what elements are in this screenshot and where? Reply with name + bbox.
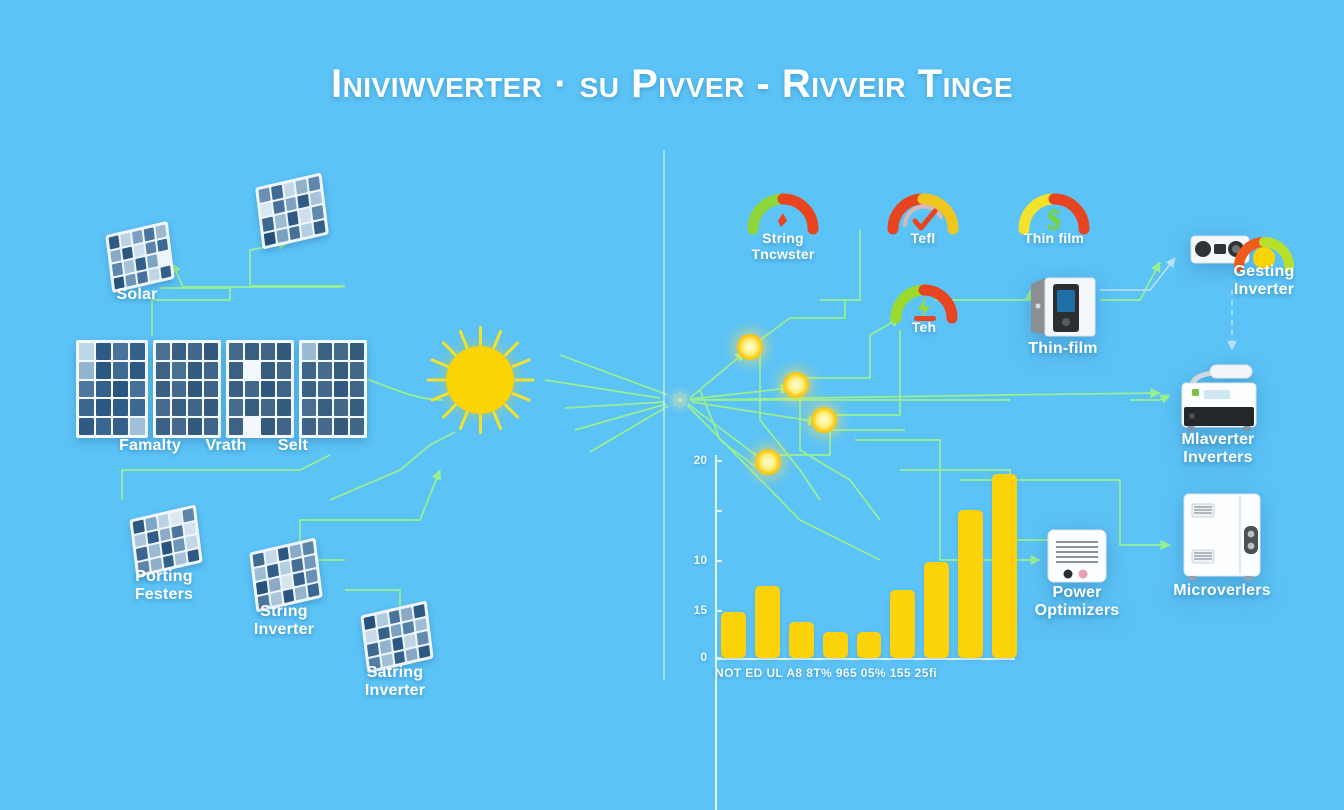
page-title: Iniviwverter · su Pivver - Rivveir Tinge [0, 62, 1344, 107]
chart-x-tick-labels: NOT ED UL A8 8T% 965 05% 155 25fi [715, 666, 1020, 680]
solar-panel-module[interactable] [153, 340, 221, 438]
gauge-label: Thin film [1012, 231, 1096, 247]
array-label-selt: Selt [258, 437, 328, 455]
chart-bar [958, 510, 983, 658]
chart-bar [857, 632, 882, 658]
panel-grid-icon [105, 221, 174, 293]
solar-panel-tile-solar[interactable]: Solar [108, 228, 172, 286]
gauge-thin-film[interactable]: $ Thin film [1016, 183, 1092, 233]
device-label: Power Optimizers [1028, 584, 1126, 620]
panel-grid-icon [360, 600, 433, 673]
panel-grid-icon [249, 537, 323, 612]
gauge-label: Gesting Inverter [1211, 263, 1317, 299]
sun-icon [430, 330, 530, 430]
device-mlaverter-inverters[interactable]: Mlaverter Inverters [1170, 355, 1266, 438]
solar-panel-tile-top[interactable] [258, 180, 326, 242]
solar-panel-tile-porting[interactable]: Porting Festers [132, 512, 200, 570]
solar-panel-module[interactable] [226, 340, 294, 438]
chart-bar [823, 632, 848, 658]
device-label: Microverlers [1168, 582, 1276, 600]
device-power-optimizers[interactable]: Power Optimizers [1046, 528, 1108, 591]
device-thin-film[interactable]: Thin-film [1025, 272, 1101, 347]
chart-ytick-1: 15 [673, 603, 707, 617]
solar-panel-array[interactable] [76, 340, 367, 438]
solar-panel-tile-label: Porting Festers [118, 568, 210, 604]
solar-panel-tile-label: Satring Inverter [353, 664, 437, 700]
chart-y-axis [715, 455, 717, 810]
solar-panel-module[interactable] [299, 340, 367, 438]
chart-bar [890, 590, 915, 658]
gauge-gesting-inverter[interactable]: Gesting Inverter [1233, 225, 1295, 271]
device-microverlers[interactable]: Microverlers [1178, 490, 1266, 589]
device-label: Thin-film [1013, 340, 1113, 358]
array-label-famalty: Famalty [108, 437, 192, 455]
device-label: Mlaverter Inverters [1158, 431, 1278, 467]
solar-panel-tile-string[interactable]: String Inverter [252, 545, 320, 605]
chart-bar [721, 612, 746, 658]
chart-bar [992, 474, 1017, 658]
chart-ytick-0: 0 [673, 650, 707, 664]
chart-bar [789, 622, 814, 658]
solar-panel-module[interactable] [76, 340, 148, 438]
solar-panel-tile-label: Solar [102, 286, 172, 304]
bar-chart: 20 10 15 0 NOT ED UL A8 8T% 965 05% 155 … [663, 150, 1023, 670]
panel-grid-icon [255, 172, 329, 249]
chart-bar [924, 562, 949, 658]
chart-divider [663, 150, 665, 680]
solar-panel-tile-satring[interactable]: Satring Inverter [363, 608, 431, 666]
panel-grid-icon [129, 504, 202, 577]
chart-bar [755, 586, 780, 658]
chart-ytick-2: 10 [673, 553, 707, 567]
array-label-vrath: Vrath [188, 437, 264, 455]
chart-ytick-3: 20 [673, 453, 707, 467]
solar-panel-tile-label: String Inverter [242, 603, 326, 639]
chart-bars [721, 458, 1017, 658]
chart-x-axis [715, 658, 1015, 660]
infographic-canvas: Iniviwverter · su Pivver - Rivveir Tinge [0, 0, 1344, 768]
